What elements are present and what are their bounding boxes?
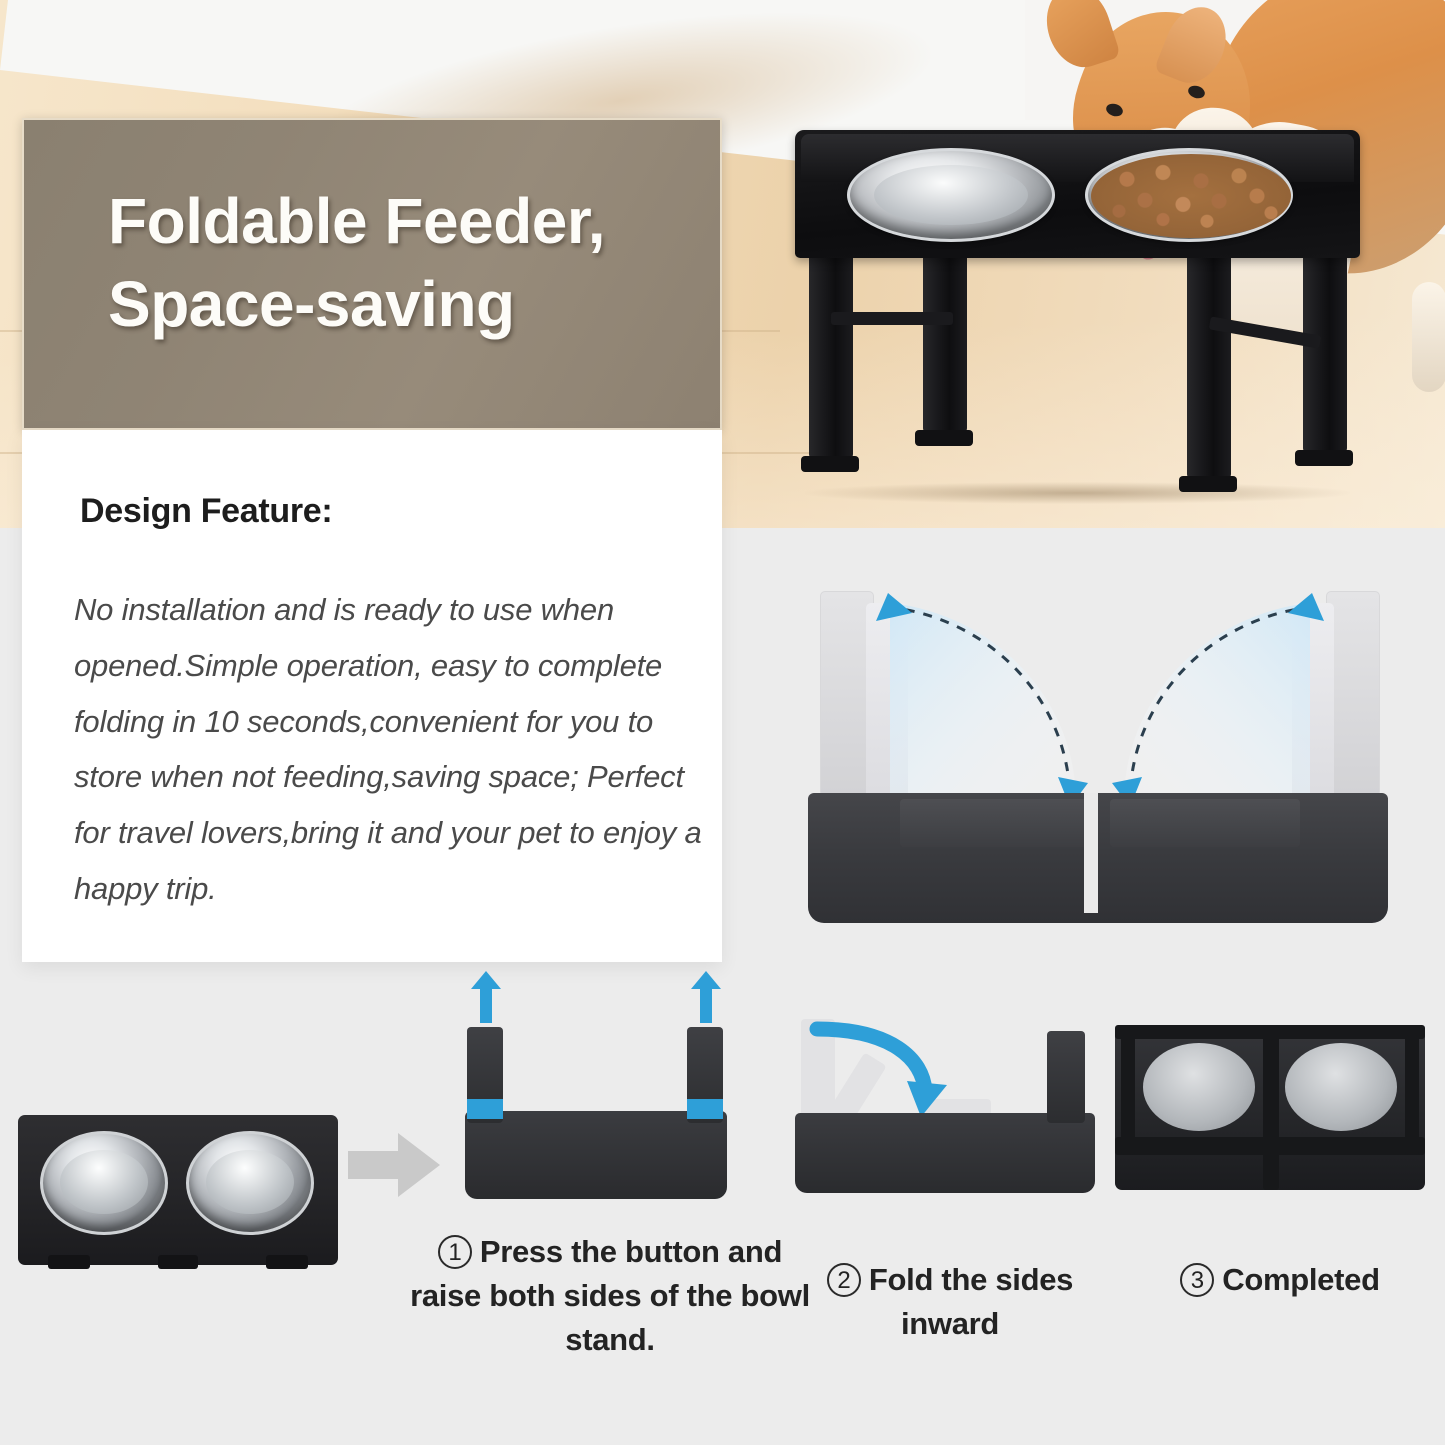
fold-diagram-lip-right <box>1110 799 1300 847</box>
step1-base <box>465 1111 727 1199</box>
dog-leg <box>1412 282 1445 392</box>
step1-blue-band-right <box>687 1099 723 1119</box>
step3-rail-left <box>1121 1035 1135 1155</box>
step-3-number: 3 <box>1180 1263 1214 1297</box>
step3-rail-center <box>1263 1025 1279 1190</box>
step-3-illustration <box>1115 1025 1425 1190</box>
step2-base <box>795 1113 1095 1193</box>
step3-bowl-left <box>1143 1043 1255 1131</box>
fold-diagram-base <box>808 793 1388 923</box>
up-arrow-icon-left <box>471 971 501 1023</box>
feeder-foot <box>1295 450 1353 466</box>
tray-foot <box>266 1255 308 1269</box>
feeder-foot <box>915 430 973 446</box>
folding-steps-row: 1Press the button and raise both sides o… <box>0 975 1445 1445</box>
step3-bowl-right <box>1285 1043 1397 1131</box>
step-1-number: 1 <box>438 1235 472 1269</box>
step2-arm-right <box>1047 1031 1085 1123</box>
feeder-ground-shadow <box>805 482 1350 504</box>
feeder-leg <box>923 248 967 434</box>
steel-bowl-right <box>186 1131 314 1235</box>
grey-right-arrow-icon <box>348 1129 440 1201</box>
step-2-number: 2 <box>827 1263 861 1297</box>
up-arrow-icon-right <box>691 971 721 1023</box>
folded-product-start <box>18 1115 338 1265</box>
fold-diagram <box>770 555 1430 955</box>
page-title: Foldable Feeder, Space-saving <box>108 180 605 346</box>
feeder-bowl-water <box>847 148 1055 242</box>
tray-foot <box>158 1255 198 1269</box>
fold-diagram-lip-left <box>900 799 1090 847</box>
feeder-brace <box>831 312 953 325</box>
step-2-text: Fold the sides inward <box>869 1262 1073 1341</box>
feeder-leg <box>1303 248 1347 454</box>
step-3-caption: 3Completed <box>1120 1258 1440 1302</box>
step-1-illustration <box>455 1003 735 1203</box>
title-line-1: Foldable Feeder, <box>108 185 605 257</box>
design-feature-heading: Design Feature: <box>80 492 332 531</box>
infographic-root: Foldable Feeder, Space-saving Design Fea… <box>0 0 1445 1445</box>
tray-foot <box>48 1255 90 1269</box>
step-3-text: Completed <box>1222 1262 1379 1297</box>
title-line-2: Space-saving <box>108 268 515 340</box>
step-1-caption: 1Press the button and raise both sides o… <box>400 1230 820 1362</box>
fold-diagram-center-notch <box>1084 793 1098 913</box>
step-2-illustration <box>795 1015 1095 1195</box>
design-feature-card: Design Feature: No installation and is r… <box>22 430 722 962</box>
feeder-foot <box>801 456 859 472</box>
title-banner: Foldable Feeder, Space-saving <box>22 118 722 430</box>
kibble-food <box>1091 154 1291 238</box>
step3-rail-front <box>1115 1137 1425 1155</box>
step3-rail-right <box>1405 1035 1419 1155</box>
feeder-leg <box>1187 248 1231 480</box>
step-2-caption: 2Fold the sides inward <box>795 1258 1105 1346</box>
hero-feeder <box>795 130 1360 500</box>
feeder-leg <box>809 248 853 460</box>
steel-bowl-left <box>40 1131 168 1235</box>
step1-blue-band-left <box>467 1099 503 1119</box>
feeder-foot <box>1179 476 1237 492</box>
design-feature-body: No installation and is ready to use when… <box>74 582 706 917</box>
